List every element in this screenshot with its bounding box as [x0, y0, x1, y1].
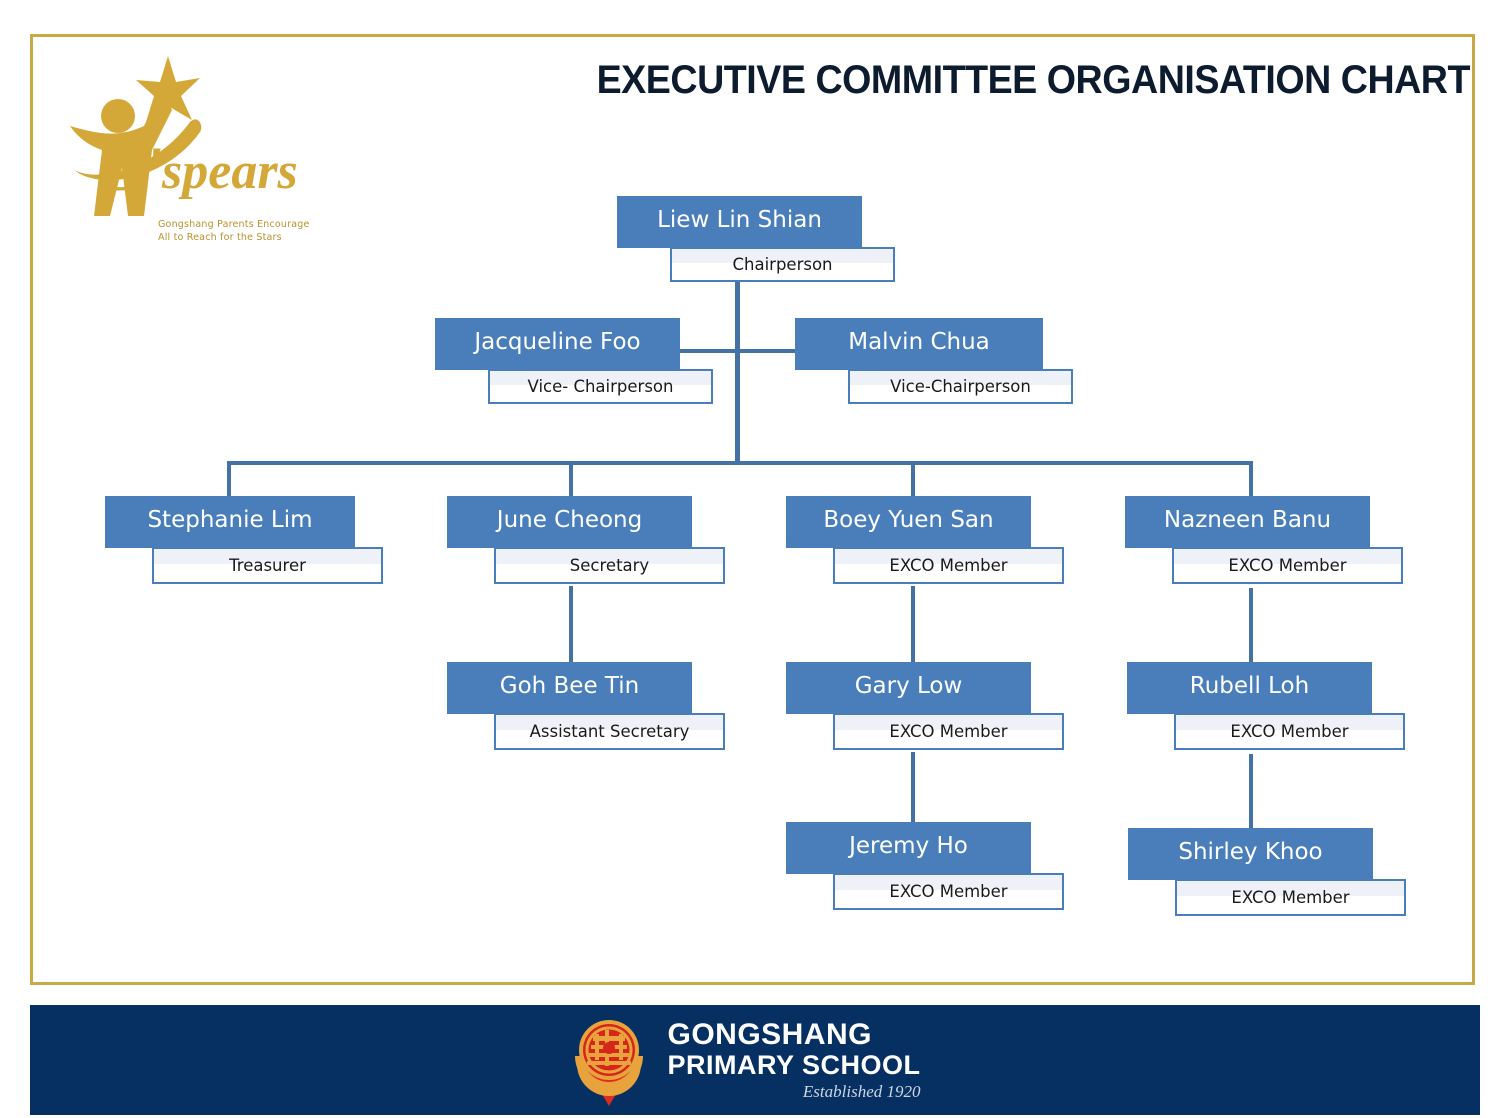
connector-level2-bar: [227, 461, 1253, 465]
org-node-name: Jeremy Ho: [786, 822, 1031, 874]
footer-banner: GONGSHANG PRIMARY SCHOOL Established 192…: [30, 1005, 1480, 1115]
org-node-name: Stephanie Lim: [105, 496, 355, 548]
school-name-line2: PRIMARY SCHOOL: [667, 1052, 920, 1079]
org-node-role: EXCO Member: [1175, 879, 1406, 916]
org-node-name: Gary Low: [786, 662, 1031, 714]
org-node-name: Shirley Khoo: [1128, 828, 1373, 880]
org-node-role: EXCO Member: [1174, 713, 1405, 750]
school-wordmark: GONGSHANG PRIMARY SCHOOL Established 192…: [667, 1020, 920, 1100]
school-established: Established 1920: [667, 1083, 920, 1100]
org-node-role: Secretary: [494, 547, 725, 584]
connector-drop-june: [569, 461, 573, 497]
connector-rubell-to-shirley: [1249, 754, 1253, 828]
connector-june-to-goh: [569, 586, 573, 662]
org-node-role: Vice-Chairperson: [848, 369, 1073, 404]
connector-drop-boey: [911, 461, 915, 497]
org-node-name: Boey Yuen San: [786, 496, 1031, 548]
connector-nazneen-to-rubell: [1249, 588, 1253, 662]
org-node-role: EXCO Member: [833, 873, 1064, 910]
org-node-role: EXCO Member: [1172, 547, 1403, 584]
connector-boey-to-gary: [911, 586, 915, 662]
org-node-role: EXCO Member: [833, 713, 1064, 750]
org-node-role: Vice- Chairperson: [488, 369, 713, 404]
connector-drop-nazneen: [1249, 461, 1253, 497]
org-node-role: Treasurer: [152, 547, 383, 584]
org-node-name: Nazneen Banu: [1125, 496, 1370, 548]
org-node-name: Goh Bee Tin: [447, 662, 692, 714]
org-node-role: Assistant Secretary: [494, 713, 725, 750]
org-node-role: Chairperson: [670, 247, 895, 282]
connector-trunk-main: [735, 282, 740, 464]
school-name-line1: GONGSHANG: [667, 1020, 920, 1050]
org-node-name: Malvin Chua: [795, 318, 1043, 370]
org-node-name: Rubell Loh: [1127, 662, 1372, 714]
connector-vicechair-bar: [678, 349, 798, 353]
org-node-role: EXCO Member: [833, 547, 1064, 584]
connector-drop-stephanie: [227, 461, 231, 497]
org-node-name: Liew Lin Shian: [617, 196, 862, 248]
org-node-name: June Cheong: [447, 496, 692, 548]
connector-gary-to-jeremy: [911, 752, 915, 824]
org-node-name: Jacqueline Foo: [435, 318, 680, 370]
school-crest-icon: [565, 1012, 653, 1108]
org-chart: Liew Lin Shian Chairperson Jacqueline Fo…: [0, 0, 1500, 1000]
